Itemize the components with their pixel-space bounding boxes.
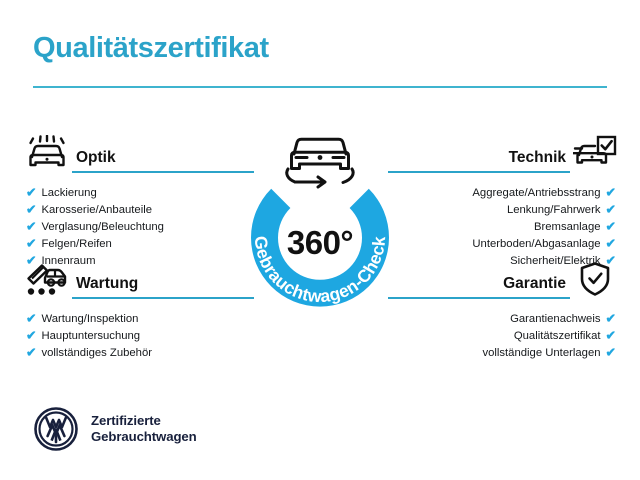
car-checkbox-icon bbox=[570, 132, 620, 174]
vw-lockup-text: Zertifizierte Gebrauchtwagen bbox=[91, 413, 197, 445]
list-item-label: Aggregate/Antriebsstrang bbox=[472, 188, 600, 199]
list-item-label: Lackierung bbox=[41, 188, 96, 199]
volkswagen-logo bbox=[33, 406, 79, 452]
section-wartung: Wartung ✔ Wartung/Inspektion ✔ Hauptunte… bbox=[22, 256, 254, 362]
section-garantie-header: Garantie bbox=[388, 256, 620, 300]
list-item: ✔ vollständiges Zubehör bbox=[26, 345, 254, 362]
vw-lockup-line2: Gebrauchtwagen bbox=[91, 429, 197, 445]
list-item: Garantienachweis ✔ bbox=[388, 311, 616, 328]
check-icon: ✔ bbox=[26, 187, 36, 200]
list-item-label: Hauptuntersuchung bbox=[41, 331, 140, 342]
list-item: Bremsanlage ✔ bbox=[388, 219, 616, 236]
list-item-label: Qualitätszertifikat bbox=[514, 331, 601, 342]
page-title: Qualitätszertifikat bbox=[33, 33, 269, 65]
list-item-label: vollständige Unterlagen bbox=[482, 348, 600, 359]
section-garantie-divider bbox=[388, 297, 570, 299]
section-optik: Optik ✔ Lackierung ✔ Karosserie/Anbautei… bbox=[22, 130, 254, 270]
check-icon: ✔ bbox=[26, 204, 36, 217]
section-garantie: Garantie Garantienachweis ✔ Qualitätszer… bbox=[388, 256, 620, 362]
list-item: vollständige Unterlagen ✔ bbox=[388, 345, 616, 362]
list-item-label: Bremsanlage bbox=[534, 222, 601, 233]
section-garantie-title: Garantie bbox=[388, 275, 570, 297]
title-divider bbox=[33, 86, 607, 88]
list-item-label: Karosserie/Anbauteile bbox=[41, 205, 152, 216]
list-item: Qualitätszertifikat ✔ bbox=[388, 328, 616, 345]
section-technik-title: Technik bbox=[388, 149, 570, 171]
list-item-label: Garantienachweis bbox=[510, 314, 600, 325]
list-item: Lenkung/Fahrwerk ✔ bbox=[388, 202, 616, 219]
badge-360-gebrauchtwagen-check: Gebrauchtwagen-Check 360° bbox=[231, 120, 409, 320]
check-icon: ✔ bbox=[606, 204, 616, 217]
section-technik-header: Technik bbox=[388, 130, 620, 174]
list-item-label: Wartung/Inspektion bbox=[41, 314, 138, 325]
list-item: ✔ Lackierung bbox=[26, 185, 254, 202]
list-item-label: Felgen/Reifen bbox=[41, 239, 111, 250]
check-icon: ✔ bbox=[606, 313, 616, 326]
vw-certified-lockup: Zertifizierte Gebrauchtwagen bbox=[33, 406, 197, 452]
car-rotate-360-icon bbox=[287, 139, 353, 187]
section-optik-title: Optik bbox=[72, 149, 254, 171]
check-icon: ✔ bbox=[606, 238, 616, 251]
car-shine-icon bbox=[22, 132, 72, 174]
section-garantie-list: Garantienachweis ✔ Qualitätszertifikat ✔… bbox=[388, 311, 620, 362]
list-item-label: Verglasung/Beleuchtung bbox=[41, 222, 163, 233]
section-optik-header: Optik bbox=[22, 130, 254, 174]
list-item: Unterboden/Abgasanlage ✔ bbox=[388, 236, 616, 253]
section-optik-divider bbox=[72, 171, 254, 173]
check-icon: ✔ bbox=[26, 347, 36, 360]
check-icon: ✔ bbox=[606, 347, 616, 360]
certificate-page: Qualitätszertifikat bbox=[0, 0, 640, 480]
check-icon: ✔ bbox=[26, 313, 36, 326]
list-item-label: vollständiges Zubehör bbox=[41, 348, 152, 359]
vw-lockup-line1: Zertifizierte bbox=[91, 413, 197, 429]
section-wartung-divider bbox=[72, 297, 254, 299]
shield-check-icon bbox=[570, 258, 620, 300]
check-icon: ✔ bbox=[26, 221, 36, 234]
section-wartung-header: Wartung bbox=[22, 256, 254, 300]
list-item: ✔ Felgen/Reifen bbox=[26, 236, 254, 253]
list-item-label: Unterboden/Abgasanlage bbox=[472, 239, 600, 250]
section-wartung-title: Wartung bbox=[72, 275, 254, 297]
list-item-label: Lenkung/Fahrwerk bbox=[507, 205, 601, 216]
car-service-tool-icon bbox=[22, 258, 72, 300]
list-item: ✔ Verglasung/Beleuchtung bbox=[26, 219, 254, 236]
list-item: ✔ Wartung/Inspektion bbox=[26, 311, 254, 328]
section-wartung-list: ✔ Wartung/Inspektion ✔ Hauptuntersuchung… bbox=[22, 311, 254, 362]
check-icon: ✔ bbox=[606, 187, 616, 200]
check-icon: ✔ bbox=[606, 221, 616, 234]
check-icon: ✔ bbox=[606, 330, 616, 343]
section-technik-divider bbox=[388, 171, 570, 173]
list-item: Aggregate/Antriebsstrang ✔ bbox=[388, 185, 616, 202]
section-technik: Technik Aggregate/Antriebsstrang ✔ bbox=[388, 130, 620, 270]
check-icon: ✔ bbox=[26, 330, 36, 343]
list-item: ✔ Hauptuntersuchung bbox=[26, 328, 254, 345]
check-icon: ✔ bbox=[26, 238, 36, 251]
list-item: ✔ Karosserie/Anbauteile bbox=[26, 202, 254, 219]
badge-center-label: 360° bbox=[231, 226, 409, 259]
